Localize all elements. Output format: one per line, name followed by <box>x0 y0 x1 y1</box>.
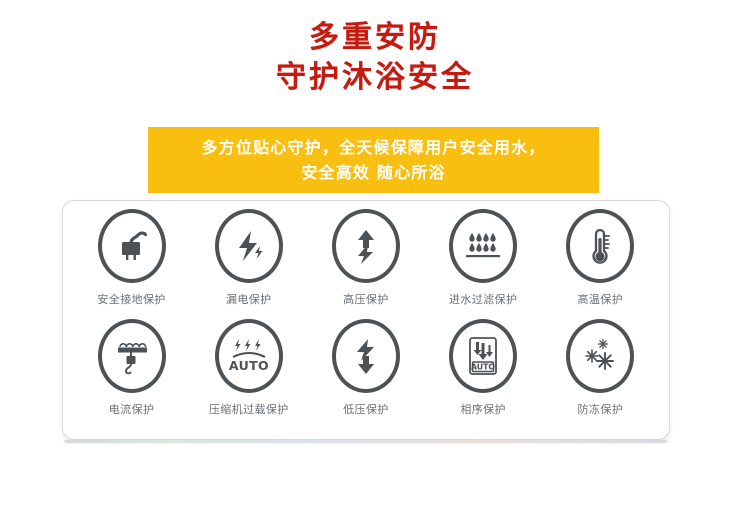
feature-label: 压缩机过载保护 <box>209 401 289 417</box>
svg-text:AUTO: AUTO <box>471 363 495 372</box>
feature-item-grounding[interactable]: 安全接地保护 <box>77 209 187 307</box>
water-droplets-filter-icon <box>449 209 517 283</box>
page-title: 多重安防 守护沐浴安全 <box>0 18 750 98</box>
protection-features-card: 安全接地保护 漏电保护 高压保护 <box>62 200 670 440</box>
tagline-banner: 多方位贴心守护，全天候保障用户安全用水， 安全高效 随心所浴 <box>148 127 599 193</box>
title-line-2: 守护沐浴安全 <box>0 58 750 98</box>
banner-line-2: 安全高效 随心所浴 <box>301 160 445 185</box>
current-coil-icon <box>98 319 166 393</box>
feature-label: 防冻保护 <box>578 401 624 417</box>
feature-item-high-voltage[interactable]: 高压保护 <box>311 209 421 307</box>
feature-item-compressor-overload[interactable]: AUTO 压缩机过载保护 <box>194 319 304 417</box>
feature-item-current[interactable]: 电流保护 <box>77 319 187 417</box>
snowflake-icon <box>566 319 634 393</box>
feature-label: 高压保护 <box>343 291 389 307</box>
auto-phase-arrows-icon: AUTO <box>449 319 517 393</box>
feature-label: 高温保护 <box>578 291 624 307</box>
svg-text:AUTO: AUTO <box>229 358 269 373</box>
up-arrow-bolt-icon <box>332 209 400 283</box>
feature-item-low-voltage[interactable]: 低压保护 <box>311 319 421 417</box>
feature-item-antifreeze[interactable]: 防冻保护 <box>545 319 655 417</box>
feature-label: 进水过滤保护 <box>449 291 517 307</box>
feature-label: 漏电保护 <box>226 291 272 307</box>
feature-label: 安全接地保护 <box>97 291 165 307</box>
feature-label: 相序保护 <box>460 401 506 417</box>
feature-item-phase-sequence[interactable]: AUTO 相序保护 <box>428 319 538 417</box>
feature-label: 电流保护 <box>109 401 155 417</box>
auto-bolts-icon: AUTO <box>215 319 283 393</box>
feature-row-2: 电流保护 AUTO 压缩机过载保护 <box>73 319 659 429</box>
grounded-plug-icon <box>98 209 166 283</box>
down-arrow-bolt-icon <box>332 319 400 393</box>
card-bottom-reflection <box>64 440 668 443</box>
feature-item-high-temperature[interactable]: 高温保护 <box>545 209 655 307</box>
banner-line-1: 多方位贴心守护，全天候保障用户安全用水， <box>201 135 545 160</box>
thermometer-icon <box>566 209 634 283</box>
feature-item-leakage[interactable]: 漏电保护 <box>194 209 304 307</box>
feature-item-water-filter[interactable]: 进水过滤保护 <box>428 209 538 307</box>
feature-label: 低压保护 <box>343 401 389 417</box>
feature-row-1: 安全接地保护 漏电保护 高压保护 <box>73 209 659 319</box>
title-line-1: 多重安防 <box>0 18 750 58</box>
lightning-bolt-icon <box>215 209 283 283</box>
